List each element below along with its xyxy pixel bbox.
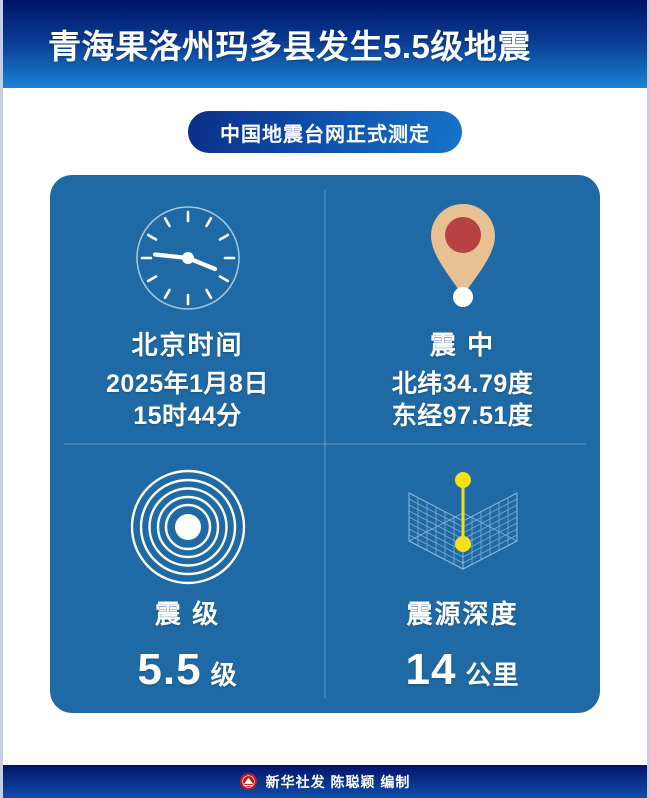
clock-icon-box — [133, 193, 243, 323]
footer-bar: 新华社发 陈聪颖 编制 — [3, 765, 647, 798]
map-pin-icon-box — [419, 193, 507, 323]
cell-line-2: 东经97.51度 — [392, 400, 534, 432]
cell-title: 震源深度 — [406, 594, 518, 631]
magnitude-unit: 级 — [211, 655, 238, 692]
footer-credit: 新华社发 陈聪颖 编制 — [266, 772, 411, 792]
depth-value: 14 — [406, 645, 457, 695]
cell-detail: 北纬34.79度 东经97.51度 — [392, 368, 534, 432]
source-badge: 中国地震台网正式测定 — [188, 111, 462, 153]
cell-depth: 震源深度 14 公里 — [325, 444, 600, 713]
xinhua-logo-glyph — [242, 775, 255, 788]
infographic-page: 青海果洛州玛多县发生5.5级地震 中国地震台网正式测定 — [0, 0, 650, 798]
cell-value: 14 公里 — [406, 645, 520, 695]
content-area: 中国地震台网正式测定 — [3, 88, 647, 765]
header-bar: 青海果洛州玛多县发生5.5级地震 — [3, 0, 647, 88]
depth-unit: 公里 — [465, 655, 519, 692]
seismic-center-dot — [175, 514, 201, 540]
cell-value: 5.5 级 — [137, 645, 237, 695]
cell-epicenter: 震 中 北纬34.79度 东经97.51度 — [325, 175, 600, 444]
cell-title: 震 级 — [155, 594, 220, 631]
cell-magnitude: 震 级 5.5 级 — [50, 444, 325, 713]
page-title: 青海果洛州玛多县发生5.5级地震 — [48, 20, 531, 68]
depth-cube-icon — [399, 463, 527, 591]
map-pin-base-dot — [453, 287, 473, 307]
depth-top-dot — [455, 472, 471, 488]
cell-line-2: 15时44分 — [106, 400, 269, 432]
seismic-rings-icon — [128, 467, 248, 587]
map-pin-icon — [419, 198, 507, 318]
map-pin-dot — [445, 217, 481, 253]
depth-cube-icon-box — [399, 462, 527, 592]
cell-detail: 2025年1月8日 15时44分 — [106, 368, 269, 432]
badge-container: 中国地震台网正式测定 — [3, 111, 647, 153]
seismic-rings-icon-box — [128, 462, 248, 592]
cell-title: 震 中 — [430, 325, 495, 362]
clock-icon — [133, 203, 243, 313]
stats-panel: 北京时间 2025年1月8日 15时44分 震 中 北纬34.79度 — [50, 175, 600, 713]
cell-line-1: 2025年1月8日 — [106, 368, 269, 400]
magnitude-value: 5.5 — [137, 645, 201, 695]
clock-center-dot — [182, 252, 194, 264]
xinhua-logo-icon — [240, 773, 257, 790]
cell-beijing-time: 北京时间 2025年1月8日 15时44分 — [50, 175, 325, 444]
cell-title: 北京时间 — [131, 325, 243, 362]
cell-line-1: 北纬34.79度 — [392, 368, 534, 400]
depth-bottom-dot — [455, 536, 471, 552]
